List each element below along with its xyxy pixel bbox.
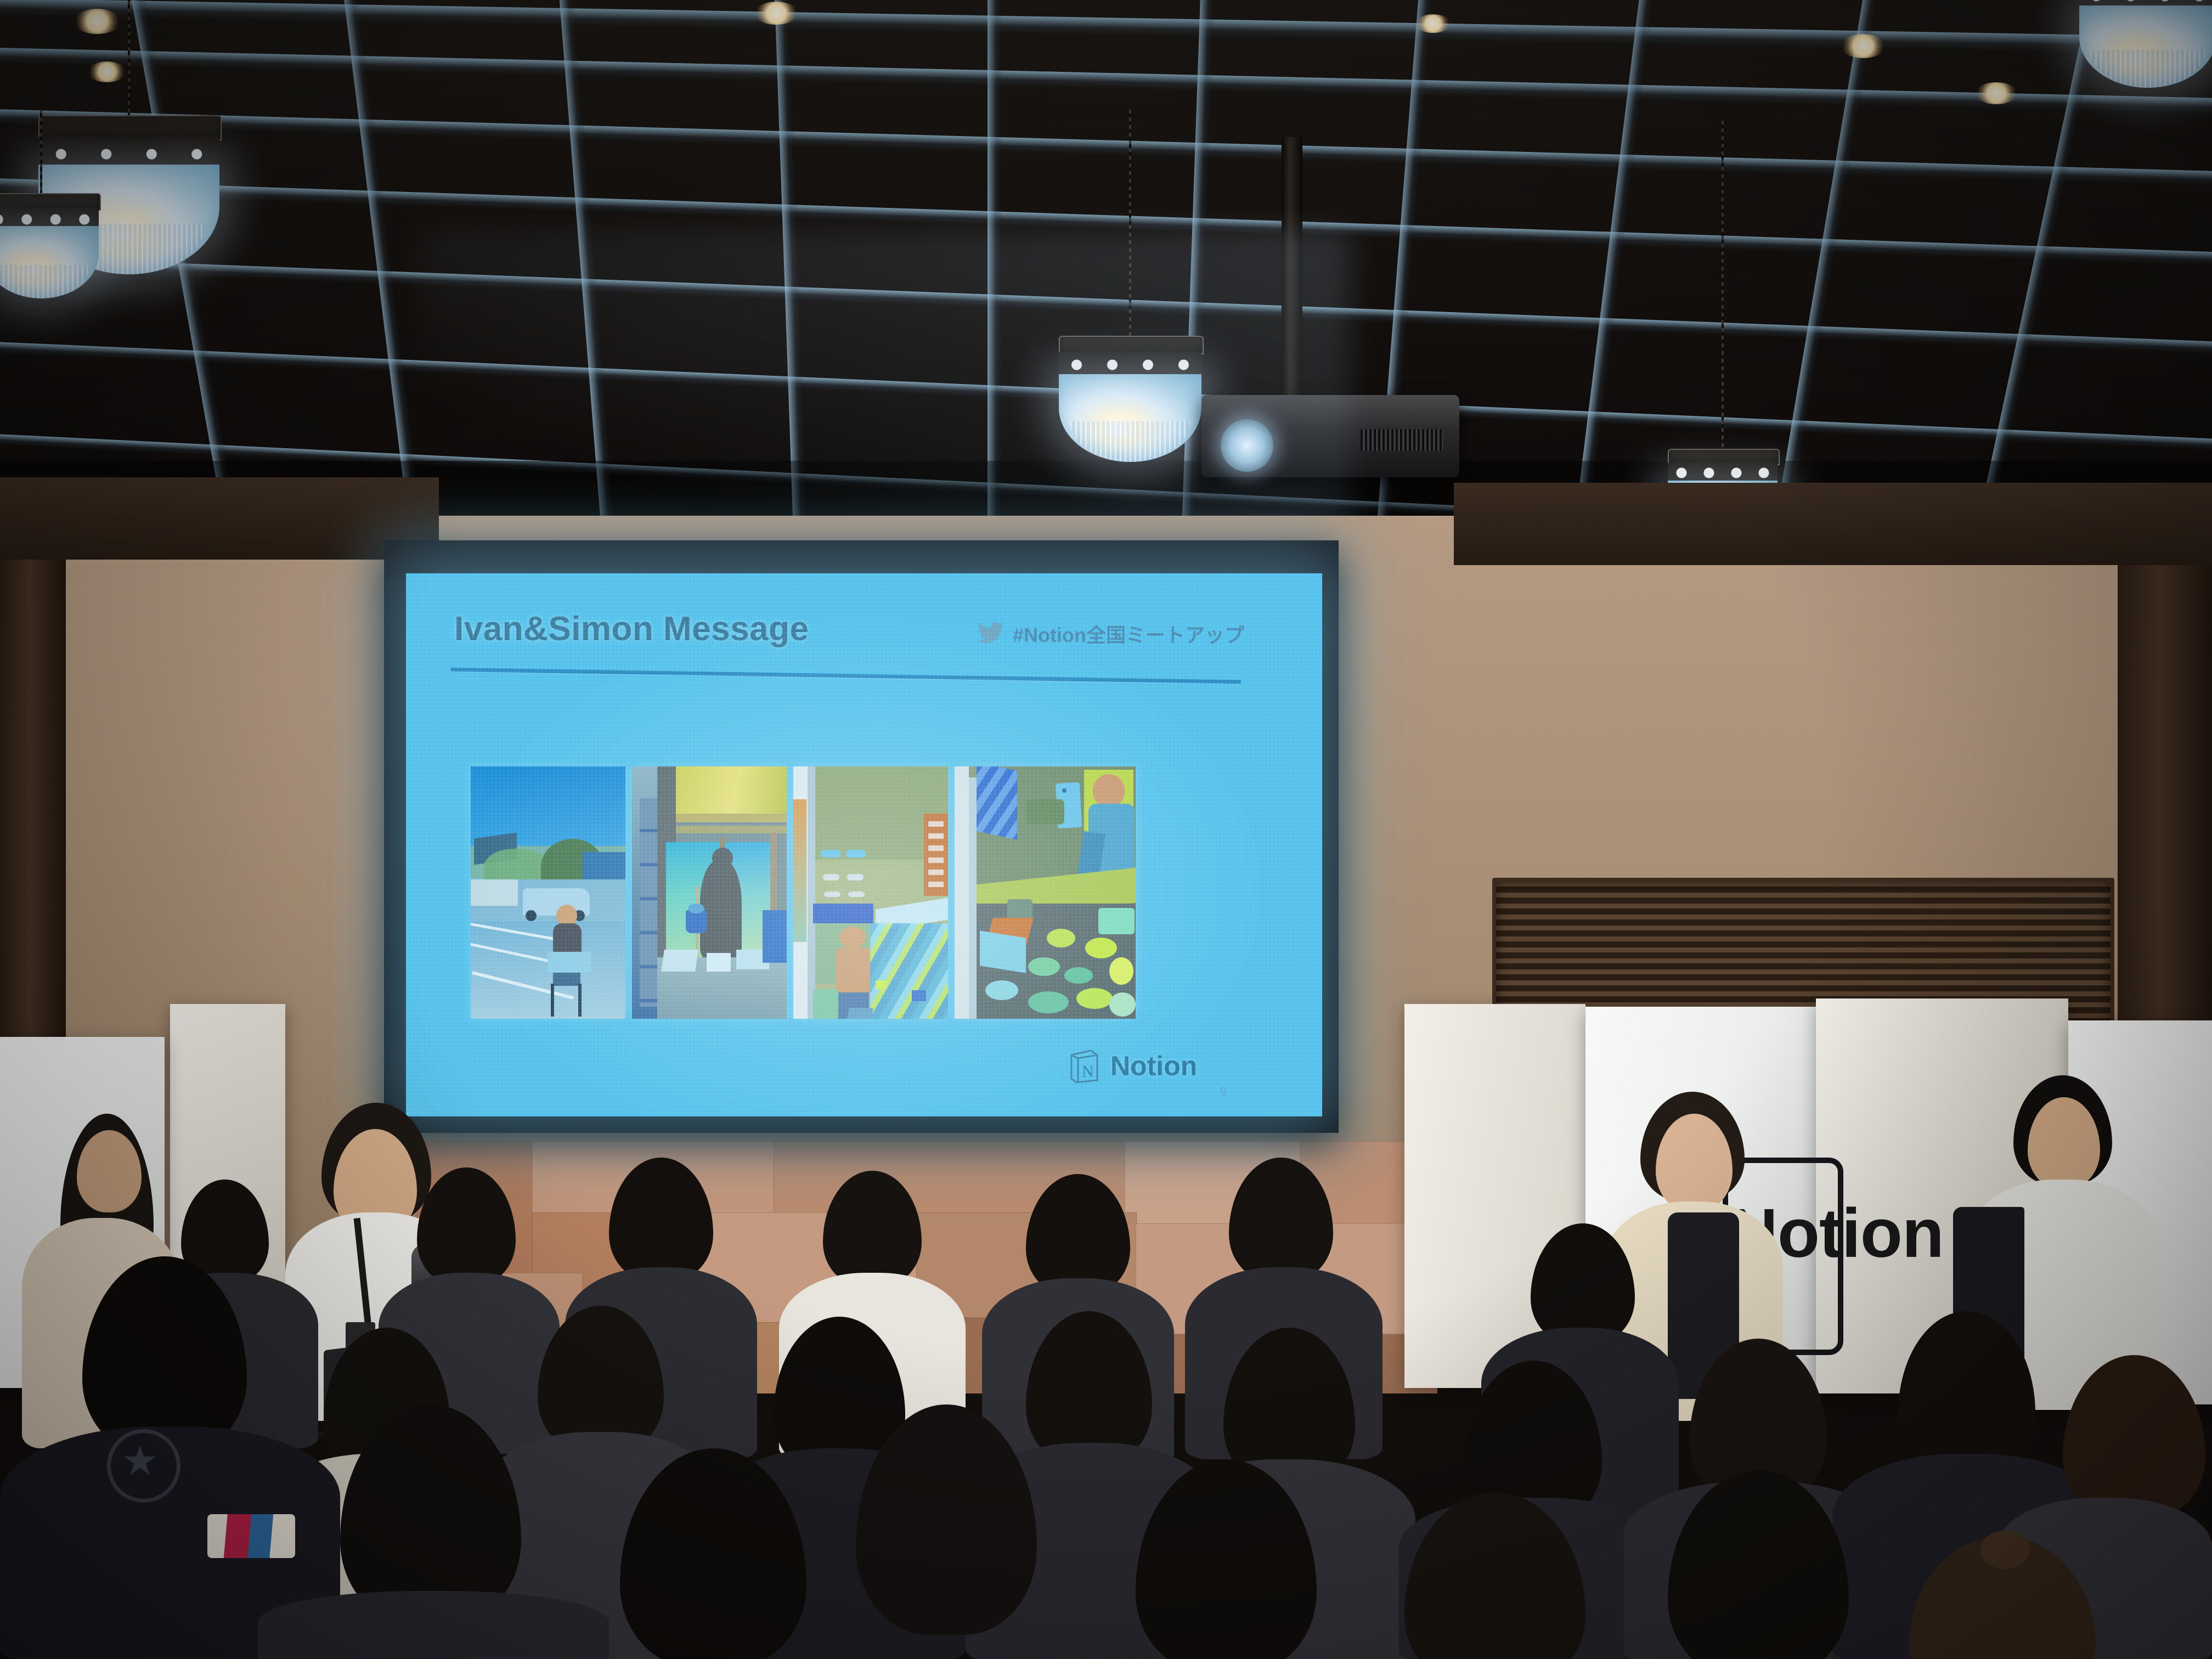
notion-wordmark: Notion: [1110, 1050, 1197, 1082]
recessed-downlight: [1975, 82, 2018, 104]
hair-tie: [1980, 1531, 2030, 1569]
photo-cafe-interior: [632, 766, 787, 1019]
hashtag-label: #Notion全国ミートアップ: [1013, 619, 1244, 648]
photo-strip: [471, 766, 1250, 1019]
slide-page-number: 9: [1220, 1085, 1227, 1099]
pendant-lamp: [1668, 121, 1778, 340]
ceiling-fascia-left: [0, 477, 439, 560]
wood-column-right: [2118, 494, 2212, 1097]
star-glyph-icon: ★: [120, 1444, 160, 1485]
slide-title: Ivan&Simon Message: [454, 610, 809, 648]
twitter-bird-icon: [977, 622, 1005, 646]
recessed-downlight: [1415, 14, 1451, 33]
ceiling-fascia: [1454, 483, 2212, 565]
pendant-lamp: [2079, 0, 2212, 126]
pendant-lamp: [0, 110, 99, 318]
audience-body-foreground: [258, 1591, 609, 1659]
hashtag-block: #Notion全国ミートアップ: [977, 619, 1244, 648]
ceiling-projector: [1125, 137, 1459, 532]
coffered-ceiling: [0, 0, 2212, 554]
recessed-downlight: [754, 2, 798, 25]
photo-scene: Ivan&Simon Message #Notion全国ミートアップ: [0, 0, 2212, 1659]
recessed-downlight: [1841, 34, 1886, 58]
svg-text:N: N: [1082, 1063, 1094, 1081]
photo-yukata-meal: [955, 766, 1136, 1019]
colorful-patch: [207, 1514, 295, 1558]
photo-cyclist-street: [471, 766, 625, 1019]
notion-brand: N Notion: [1069, 1048, 1197, 1084]
title-divider: [451, 668, 1241, 684]
photo-supermarket-aisle: [793, 766, 948, 1019]
wood-column-left: [0, 494, 66, 1042]
notion-logo-mark: N: [1069, 1048, 1099, 1084]
projection-screen: Ivan&Simon Message #Notion全国ミートアップ: [406, 573, 1322, 1116]
